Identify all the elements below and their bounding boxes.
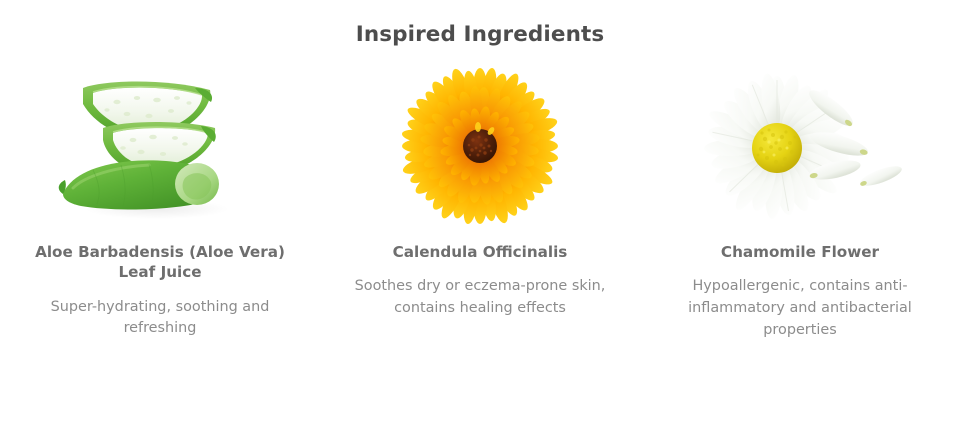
ingredient-card-aloe: Aloe Barbadensis (Aloe Vera) Leaf Juice …: [0, 66, 320, 340]
chamomile-flower-image: [685, 66, 915, 226]
ingredient-description: Soothes dry or eczema-prone skin, contai…: [349, 276, 611, 319]
detached-petal-group: [805, 85, 904, 190]
ingredient-card-chamomile: Chamomile Flower Hypoallergenic, contain…: [640, 66, 960, 341]
inspired-ingredients-section: Inspired Ingredients: [0, 0, 960, 435]
ingredient-title: Calendula Officinalis: [393, 242, 568, 263]
aloe-vera-leaf-slices-image: [45, 66, 275, 226]
ingredient-card-calendula: Calendula Officinalis Soothes dry or ecz…: [320, 66, 640, 320]
ingredient-description: Hypoallergenic, contains anti-inflammato…: [682, 276, 918, 341]
calendula-officinalis-flower-image: [365, 66, 595, 226]
ingredient-title: Chamomile Flower: [721, 242, 879, 263]
ingredient-title: Aloe Barbadensis (Aloe Vera) Leaf Juice: [24, 242, 296, 283]
ingredient-description: Super-hydrating, soothing and refreshing: [42, 297, 278, 340]
ingredients-columns: Aloe Barbadensis (Aloe Vera) Leaf Juice …: [0, 66, 960, 341]
page-title: Inspired Ingredients: [0, 0, 960, 48]
